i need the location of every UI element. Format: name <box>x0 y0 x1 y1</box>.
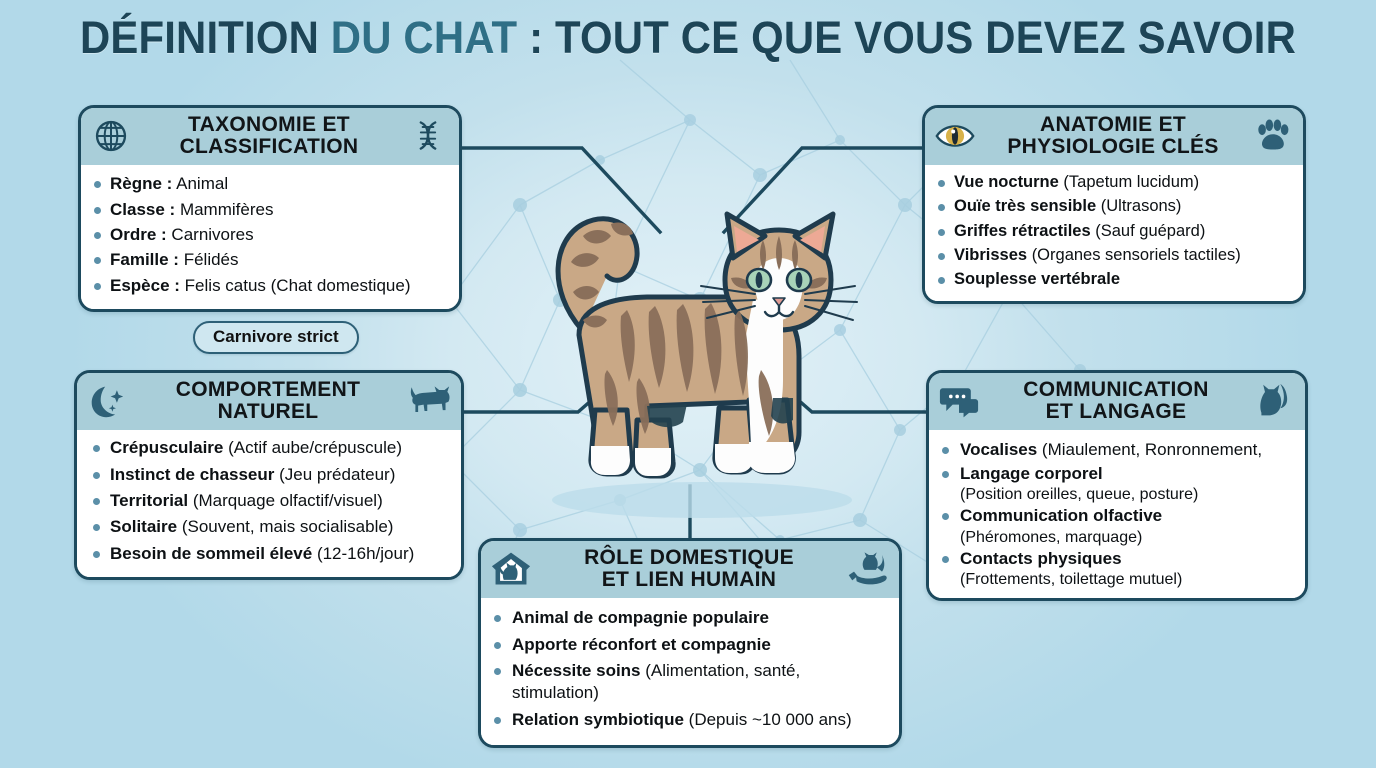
card-behaviour[interactable]: COMPORTEMENT NATUREL Crépusculaire (Acti… <box>74 370 464 580</box>
card-domestic-header: RÔLE DOMESTIQUE ET LIEN HUMAIN <box>481 541 899 598</box>
cat-eye-icon <box>935 117 975 155</box>
list-item: Relation symbiotique (Depuis ~10 000 ans… <box>490 709 890 731</box>
page-title-part3: : TOUT CE QUE VOUS DEVEZ SAVOIR <box>529 12 1296 63</box>
list-item: Ouïe très sensible (Ultrasons) <box>934 196 1294 218</box>
list-item: Crépusculaire (Actif aube/crépuscule) <box>86 437 452 459</box>
card-taxonomy[interactable]: TAXONOMIE ET CLASSIFICATION Règne : Anim… <box>78 105 462 312</box>
card-anatomy-header: ANATOMIE ET PHYSIOLOGIE CLÉS <box>925 108 1303 165</box>
cat-on-hand-icon <box>847 550 889 588</box>
paw-print-icon <box>1251 117 1293 155</box>
list-item: Vibrisses (Organes sensoriels tactiles) <box>934 245 1294 267</box>
card-communication-header: COMMUNICATION ET LANGAGE <box>929 373 1305 430</box>
list-item: Souplesse vertébrale <box>934 269 1294 291</box>
card-taxonomy-body: Règne : Animal Classe : Mammifères Ordre… <box>81 165 459 309</box>
card-anatomy[interactable]: ANATOMIE ET PHYSIOLOGIE CLÉS Vue nocturn… <box>922 105 1306 304</box>
list-item: Vocalises (Miaulement, Ronronnement, <box>938 439 1296 461</box>
speech-bubbles-icon <box>939 382 979 420</box>
page-title-part1: DÉFINITION <box>80 12 319 63</box>
list-item: Instinct de chasseur (Jeu prédateur) <box>86 464 452 486</box>
card-taxonomy-header: TAXONOMIE ET CLASSIFICATION <box>81 108 459 165</box>
list-item: Nécessite soins (Alimentation, santé, st… <box>490 660 890 705</box>
house-cat-icon <box>491 550 531 588</box>
globe-icon <box>91 117 131 155</box>
page-title: DÉFINITION DU CHAT : TOUT CE QUE VOUS DE… <box>48 12 1328 64</box>
list-item: Langage corporel(Position oreilles, queu… <box>938 463 1296 505</box>
list-item: Communication olfactive(Phéromones, marq… <box>938 505 1296 547</box>
taxonomy-list: Règne : Animal Classe : Mammifères Ordre… <box>90 173 450 297</box>
infographic-canvas: DÉFINITION DU CHAT : TOUT CE QUE VOUS DE… <box>0 0 1376 768</box>
card-communication-title: COMMUNICATION ET LANGAGE <box>985 379 1247 423</box>
list-item: Classe : Mammifères <box>90 199 450 221</box>
card-behaviour-body: Crépusculaire (Actif aube/crépuscule) In… <box>77 430 461 577</box>
card-domestic[interactable]: RÔLE DOMESTIQUE ET LIEN HUMAIN Animal de… <box>478 538 902 748</box>
status-badge-carnivore: Carnivore strict <box>193 321 359 354</box>
sitting-cat-icon <box>1253 382 1295 420</box>
communication-list: Vocalises (Miaulement, Ronronnement, Lan… <box>938 439 1296 589</box>
list-item: Griffes rétractiles (Sauf guépard) <box>934 221 1294 243</box>
card-communication[interactable]: COMMUNICATION ET LANGAGE Vocalises (Miau… <box>926 370 1308 601</box>
card-domestic-title: RÔLE DOMESTIQUE ET LIEN HUMAIN <box>537 547 841 591</box>
cat-illustration <box>487 170 907 540</box>
card-behaviour-header: COMPORTEMENT NATUREL <box>77 373 461 430</box>
dna-icon <box>407 117 449 155</box>
list-item: Contacts physiques(Frottements, toiletta… <box>938 548 1296 590</box>
list-item: Espèce : Felis catus (Chat domestique) <box>90 275 450 297</box>
moon-stars-icon <box>87 382 127 420</box>
list-item: Ordre : Carnivores <box>90 224 450 246</box>
list-item: Animal de compagnie populaire <box>490 607 890 629</box>
anatomy-list: Vue nocturne (Tapetum lucidum) Ouïe très… <box>934 172 1294 291</box>
list-item: Solitaire (Souvent, mais socialisable) <box>86 516 452 538</box>
card-domestic-body: Animal de compagnie populaire Apporte ré… <box>481 598 899 745</box>
card-communication-body: Vocalises (Miaulement, Ronronnement, Lan… <box>929 430 1305 598</box>
domestic-list: Animal de compagnie populaire Apporte ré… <box>490 607 890 731</box>
behaviour-list: Crépusculaire (Actif aube/crépuscule) In… <box>86 437 452 565</box>
card-taxonomy-title: TAXONOMIE ET CLASSIFICATION <box>137 114 401 158</box>
list-item: Besoin de sommeil élevé (12-16h/jour) <box>86 543 452 565</box>
list-item: Territorial (Marquage olfactif/visuel) <box>86 490 452 512</box>
card-anatomy-body: Vue nocturne (Tapetum lucidum) Ouïe très… <box>925 165 1303 301</box>
card-behaviour-title: COMPORTEMENT NATUREL <box>133 379 403 423</box>
page-title-part2: DU CHAT <box>331 12 518 63</box>
walking-cat-icon <box>409 382 451 420</box>
list-item: Vue nocturne (Tapetum lucidum) <box>934 172 1294 194</box>
card-anatomy-title: ANATOMIE ET PHYSIOLOGIE CLÉS <box>981 114 1245 158</box>
list-item: Règne : Animal <box>90 173 450 195</box>
list-item: Apporte réconfort et compagnie <box>490 634 890 656</box>
list-item: Famille : Félidés <box>90 249 450 271</box>
